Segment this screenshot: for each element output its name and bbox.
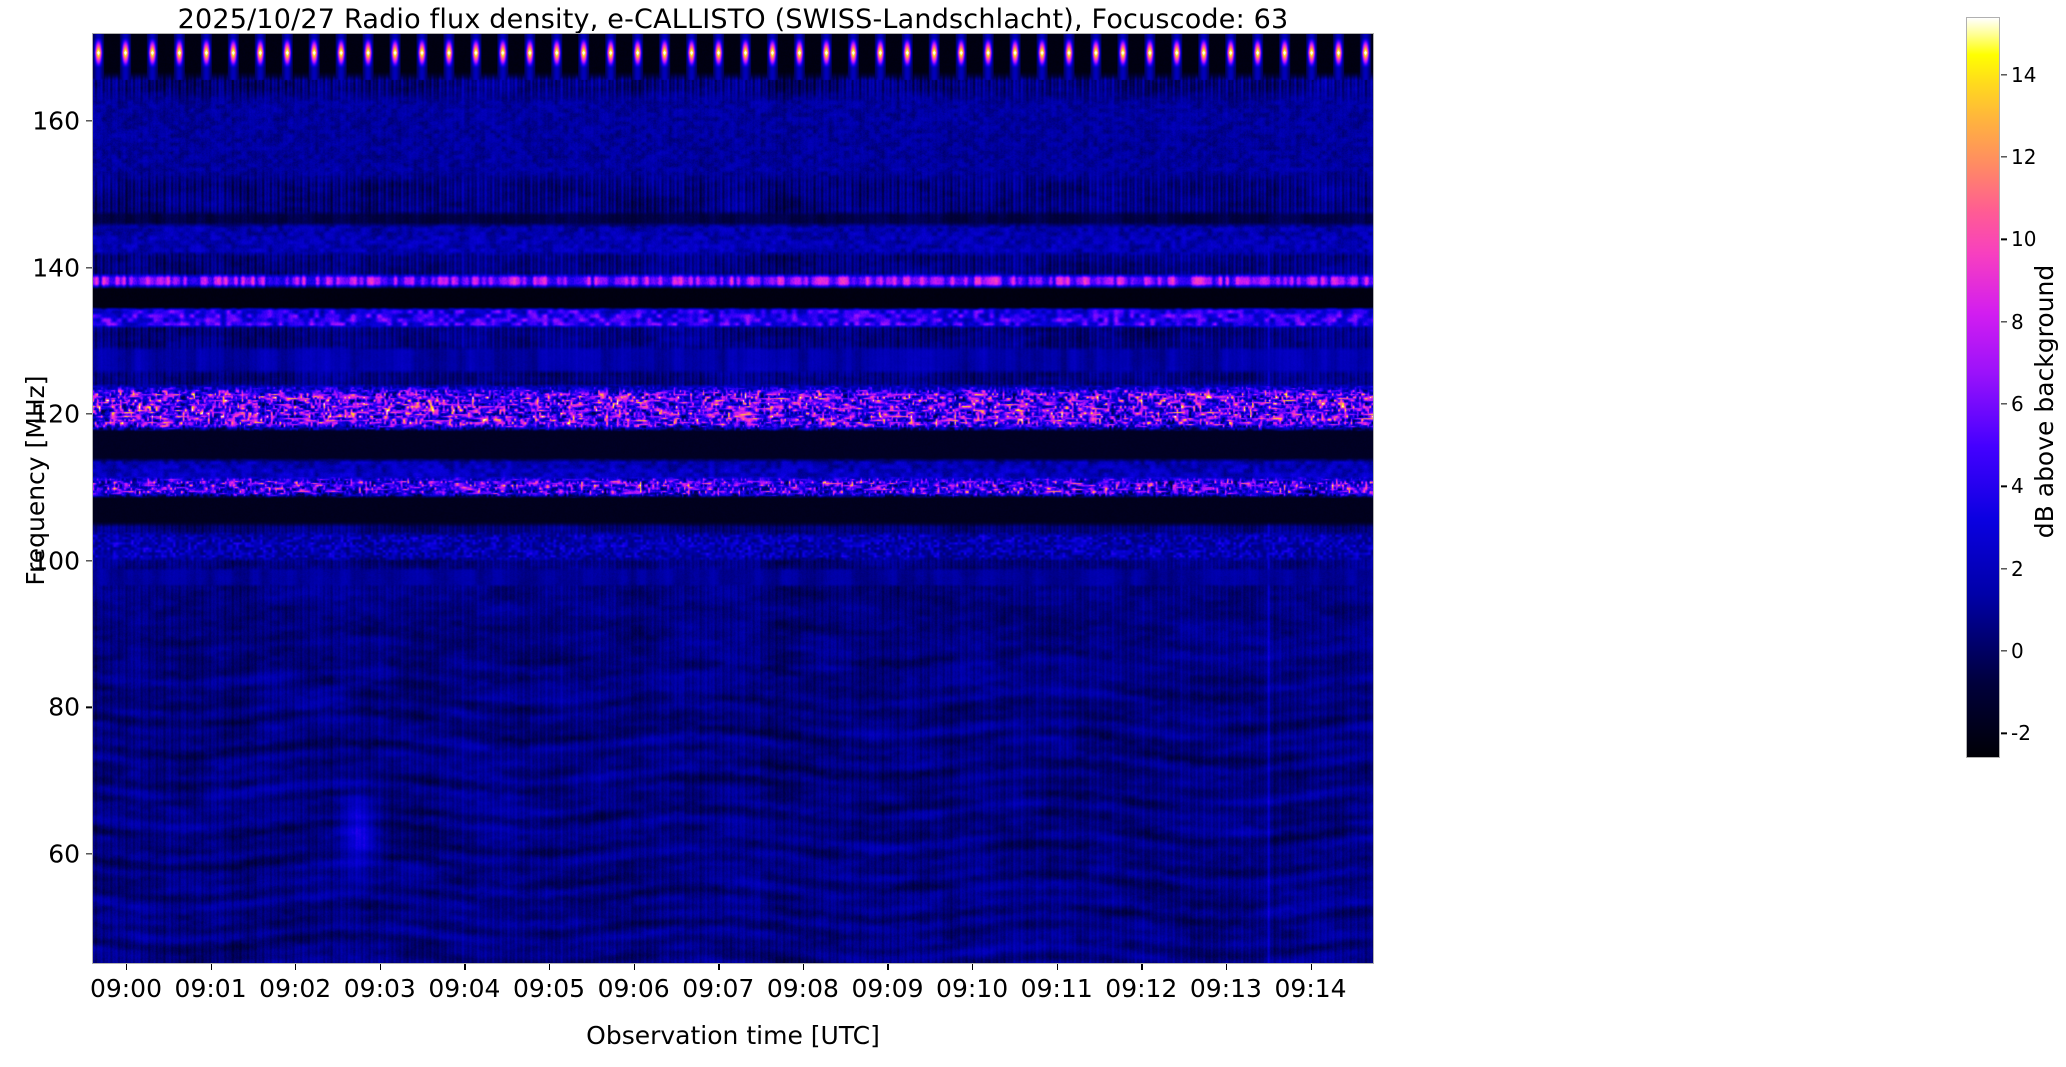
colorbar-tick-label: 6 xyxy=(2011,392,2024,416)
colorbar-tick-mark xyxy=(2001,733,2007,734)
x-tick-label: 09:10 xyxy=(936,974,1008,1003)
x-axis-label: Observation time [UTC] xyxy=(92,1021,1374,1050)
x-tick-mark xyxy=(1141,964,1142,970)
x-tick-mark xyxy=(887,964,888,970)
x-tick-label: 09:05 xyxy=(513,974,585,1003)
x-tick-label: 09:13 xyxy=(1190,974,1262,1003)
x-tick-label: 09:07 xyxy=(682,974,754,1003)
x-tick-mark xyxy=(126,964,127,970)
y-tick-label: 100 xyxy=(0,546,80,575)
x-tick-label: 09:09 xyxy=(851,974,923,1003)
x-tick-mark xyxy=(380,964,381,970)
colorbar-tick-mark xyxy=(2001,74,2007,75)
colorbar-tick-label: 2 xyxy=(2011,557,2024,581)
x-tick-mark xyxy=(803,964,804,970)
x-tick-mark xyxy=(1057,964,1058,970)
page-title: 2025/10/27 Radio flux density, e-CALLIST… xyxy=(92,4,1374,35)
x-tick-mark xyxy=(211,964,212,970)
y-tick-mark xyxy=(86,707,92,708)
y-tick-mark xyxy=(86,414,92,415)
x-tick-mark xyxy=(634,964,635,970)
x-tick-mark xyxy=(1311,964,1312,970)
x-tick-label: 09:01 xyxy=(175,974,247,1003)
colorbar-tick-mark xyxy=(2001,239,2007,240)
colorbar-tick-mark xyxy=(2001,156,2007,157)
x-tick-label: 09:11 xyxy=(1021,974,1093,1003)
spectrogram-image xyxy=(93,34,1373,963)
x-tick-label: 09:00 xyxy=(90,974,162,1003)
y-tick-mark xyxy=(86,267,92,268)
colorbar-tick-mark xyxy=(2001,403,2007,404)
colorbar-tick-label: 0 xyxy=(2011,639,2024,663)
x-tick-mark xyxy=(295,964,296,970)
y-tick-label: 60 xyxy=(0,840,80,869)
y-axis-label: Frequency [MHz] xyxy=(21,15,50,946)
colorbar-tick-mark xyxy=(2001,486,2007,487)
colorbar-tick-label: -2 xyxy=(2011,721,2031,745)
colorbar-gradient xyxy=(1967,18,1999,757)
colorbar xyxy=(1966,17,2000,758)
x-tick-mark xyxy=(549,964,550,970)
x-tick-label: 09:03 xyxy=(344,974,416,1003)
colorbar-tick-label: 8 xyxy=(2011,310,2024,334)
x-tick-mark xyxy=(464,964,465,970)
y-tick-label: 120 xyxy=(0,400,80,429)
x-tick-label: 09:12 xyxy=(1105,974,1177,1003)
colorbar-tick-mark xyxy=(2001,650,2007,651)
x-tick-mark xyxy=(972,964,973,970)
y-tick-mark xyxy=(86,560,92,561)
y-tick-mark xyxy=(86,120,92,121)
colorbar-label: dB above background xyxy=(2030,31,2059,772)
y-tick-label: 140 xyxy=(0,253,80,282)
y-tick-mark xyxy=(86,853,92,854)
x-tick-label: 09:02 xyxy=(259,974,331,1003)
spectrogram-plot-area[interactable] xyxy=(92,33,1374,964)
spectrogram-figure: 2025/10/27 Radio flux density, e-CALLIST… xyxy=(0,0,2066,1067)
x-tick-label: 09:14 xyxy=(1275,974,1347,1003)
colorbar-tick-label: 4 xyxy=(2011,474,2024,498)
x-tick-label: 09:06 xyxy=(598,974,670,1003)
colorbar-tick-mark xyxy=(2001,568,2007,569)
x-tick-mark xyxy=(1226,964,1227,970)
colorbar-tick-mark xyxy=(2001,321,2007,322)
x-tick-label: 09:08 xyxy=(767,974,839,1003)
y-tick-label: 80 xyxy=(0,693,80,722)
x-tick-mark xyxy=(718,964,719,970)
y-tick-label: 160 xyxy=(0,106,80,135)
x-tick-label: 09:04 xyxy=(428,974,500,1003)
